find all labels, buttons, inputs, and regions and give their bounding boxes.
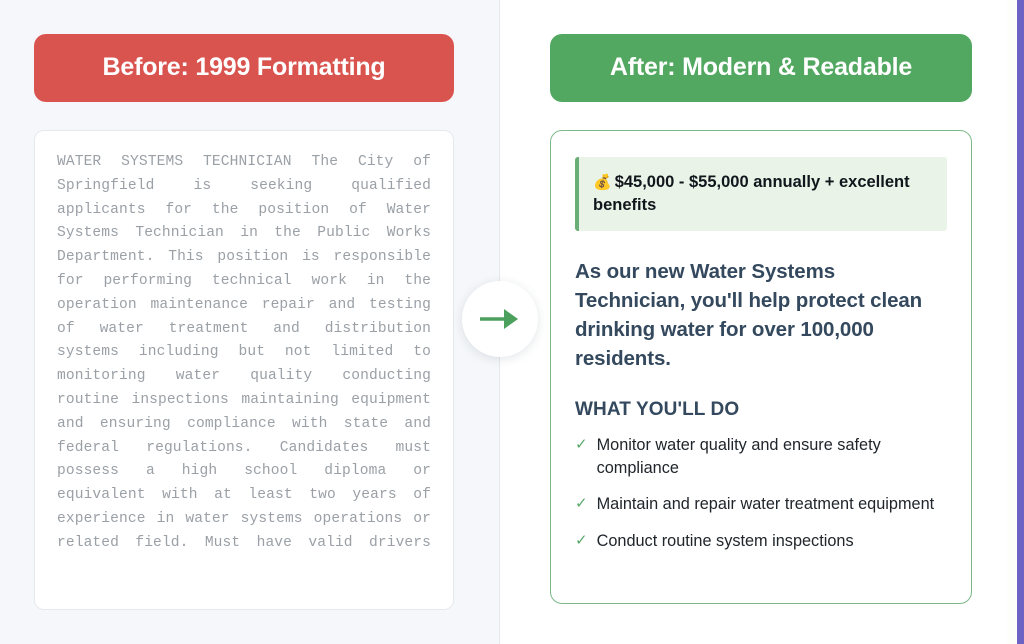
arrow-right-icon bbox=[478, 306, 522, 332]
salary-callout: 💰$45,000 - $55,000 annually + excellent … bbox=[575, 157, 947, 231]
vertical-scrollbar[interactable] bbox=[1017, 0, 1024, 644]
list-item-label: Maintain and repair water treatment equi… bbox=[597, 493, 935, 516]
check-icon: ✓ bbox=[575, 434, 588, 456]
before-panel: Before: 1999 Formatting WATER SYSTEMS TE… bbox=[0, 0, 500, 644]
before-badge: Before: 1999 Formatting bbox=[34, 34, 454, 102]
money-bag-icon: 💰 bbox=[593, 174, 612, 191]
page-right-gutter bbox=[1007, 0, 1017, 644]
list-item: ✓ Monitor water quality and ensure safet… bbox=[575, 434, 947, 479]
transition-arrow-badge bbox=[462, 281, 538, 357]
section-heading-what-youll-do: WHAT YOU'LL DO bbox=[575, 399, 947, 421]
check-icon: ✓ bbox=[575, 493, 588, 515]
check-icon: ✓ bbox=[575, 530, 588, 552]
list-item-label: Monitor water quality and ensure safety … bbox=[597, 434, 947, 479]
after-badge: After: Modern & Readable bbox=[550, 34, 972, 102]
responsibilities-list: ✓ Monitor water quality and ensure safet… bbox=[575, 434, 947, 552]
after-card: 💰$45,000 - $55,000 annually + excellent … bbox=[550, 130, 972, 604]
comparison-page: Before: 1999 Formatting WATER SYSTEMS TE… bbox=[0, 0, 1024, 644]
salary-text: $45,000 - $55,000 annually + excellent b… bbox=[593, 173, 910, 214]
list-item: ✓ Maintain and repair water treatment eq… bbox=[575, 493, 947, 516]
before-card: WATER SYSTEMS TECHNICIAN The City of Spr… bbox=[34, 130, 454, 610]
after-panel: After: Modern & Readable 💰$45,000 - $55,… bbox=[500, 0, 1024, 644]
intro-paragraph: As our new Water Systems Technician, you… bbox=[575, 257, 947, 373]
list-item-label: Conduct routine system inspections bbox=[597, 530, 854, 553]
legacy-job-description-text: WATER SYSTEMS TECHNICIAN The City of Spr… bbox=[57, 151, 431, 556]
list-item: ✓ Conduct routine system inspections bbox=[575, 530, 947, 553]
